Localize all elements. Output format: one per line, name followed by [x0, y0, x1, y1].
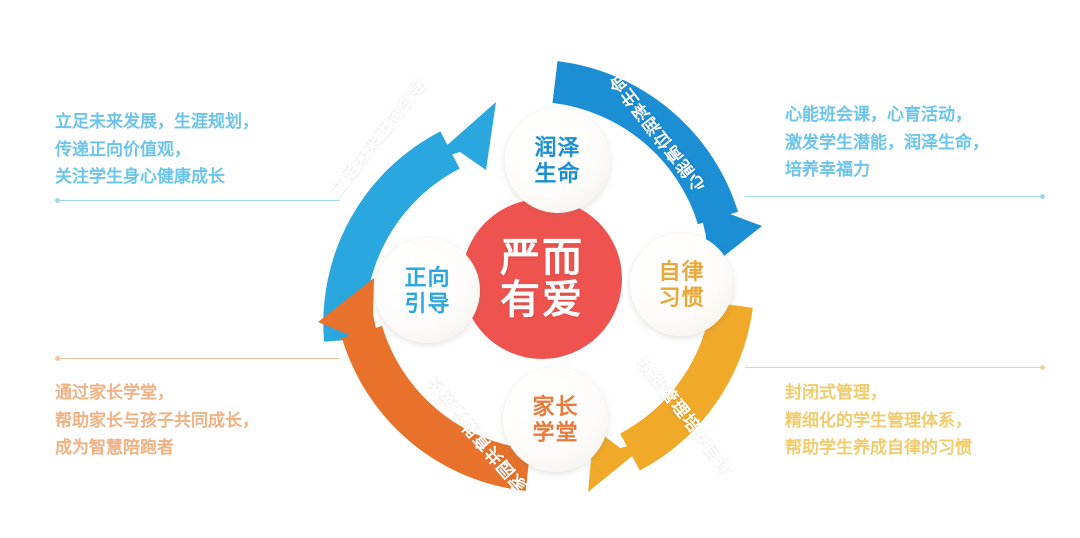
callout-bottom-left-line-2: 帮助家长与孩子共同成长，: [55, 407, 259, 435]
callout-bottom-left: 通过家长学堂， 帮助家长与孩子共同成长， 成为智慧陪跑者: [55, 379, 259, 462]
node-circle-bottom[interactable]: 家长 学堂: [503, 367, 608, 472]
node-right-line2: 习惯: [658, 285, 704, 311]
callout-bottom-left-line-1: 通过家长学堂，: [55, 379, 259, 407]
node-top-line2: 生命: [534, 161, 580, 187]
node-circle-top[interactable]: 润泽 生命: [505, 108, 610, 213]
callout-top-left-line-3: 关注学生身心健康成长: [55, 163, 259, 191]
callout-bottom-right-line-2: 精细化的学生管理体系，: [785, 407, 972, 435]
callout-top-right-line-3: 培养幸福力: [785, 156, 989, 184]
callout-top-left-line-2: 传递正向价值观，: [55, 136, 259, 164]
connector-dot-bottom-right: [1040, 365, 1045, 370]
callout-top-right-line-2: 激发学生潜能，润泽生命，: [785, 129, 989, 157]
node-bottom-line1: 家长: [532, 394, 578, 420]
callout-top-right: 心能班会课，心育活动， 激发学生潜能，润泽生命， 培养幸福力: [785, 101, 989, 184]
node-right-line1: 自律: [658, 259, 704, 285]
callout-bottom-right: 封闭式管理， 精细化的学生管理体系， 帮助学生养成自律的习惯: [785, 379, 972, 462]
connector-dot-top-left: [55, 198, 60, 203]
node-circle-right[interactable]: 自律 习惯: [630, 233, 733, 336]
node-top-line1: 润泽: [534, 135, 580, 161]
node-circle-left[interactable]: 正向 引导: [375, 238, 480, 343]
callout-bottom-right-line-3: 帮助学生养成自律的习惯: [785, 434, 972, 462]
infographic-canvas: 立足未来正向引导 心能高位润泽生命 精细管理培养自律 家园共育助力成长 严而有爱…: [0, 0, 1080, 538]
node-left-line1: 正向: [404, 265, 450, 291]
connector-rule-top-right: [745, 196, 1045, 197]
callout-top-right-line-1: 心能班会课，心育活动，: [785, 101, 989, 129]
center-core-circle: 严而有爱: [462, 199, 622, 359]
connector-dot-bottom-left: [55, 356, 60, 361]
callout-bottom-left-line-3: 成为智慧陪跑者: [55, 434, 259, 462]
callout-bottom-right-line-1: 封闭式管理，: [785, 379, 972, 407]
node-bottom-line2: 学堂: [532, 420, 578, 446]
connector-rule-bottom-right: [745, 367, 1045, 368]
connector-rule-top-left: [55, 200, 340, 201]
connector-rule-bottom-left: [55, 358, 340, 359]
center-core-label: 严而有爱: [500, 237, 584, 321]
connector-dot-top-right: [1040, 194, 1045, 199]
callout-top-left-line-1: 立足未来发展，生涯规划，: [55, 108, 259, 136]
node-left-line2: 引导: [404, 291, 450, 317]
callout-top-left: 立足未来发展，生涯规划， 传递正向价值观， 关注学生身心健康成长: [55, 108, 259, 191]
